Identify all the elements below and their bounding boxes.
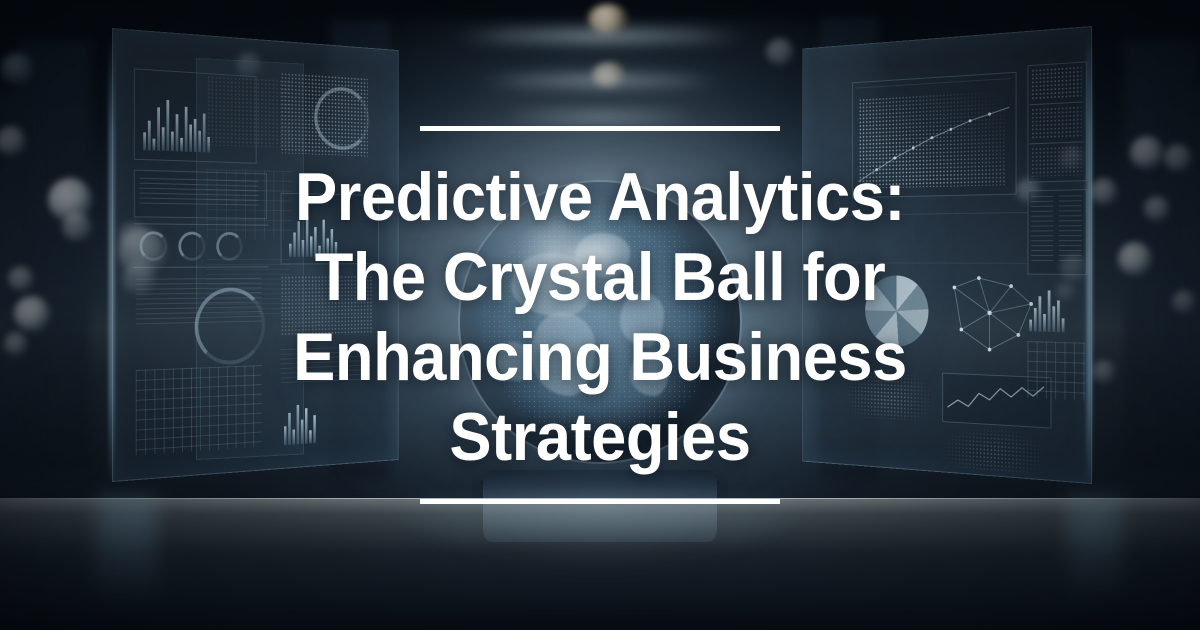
- divider-rule-top: [420, 126, 780, 131]
- headline-line: Enhancing Business: [293, 319, 907, 395]
- headline-line: The Crystal Ball for: [315, 239, 886, 315]
- headline-line: Predictive Analytics:: [295, 159, 905, 235]
- banner-content: Predictive Analytics: The Crystal Ball f…: [0, 0, 1200, 630]
- headline-line: Strategies: [449, 399, 750, 475]
- divider-rule-bottom: [420, 499, 780, 504]
- page-title: Predictive Analytics: The Crystal Ball f…: [275, 157, 926, 478]
- banner-image: Predictive Analytics: The Crystal Ball f…: [0, 0, 1200, 630]
